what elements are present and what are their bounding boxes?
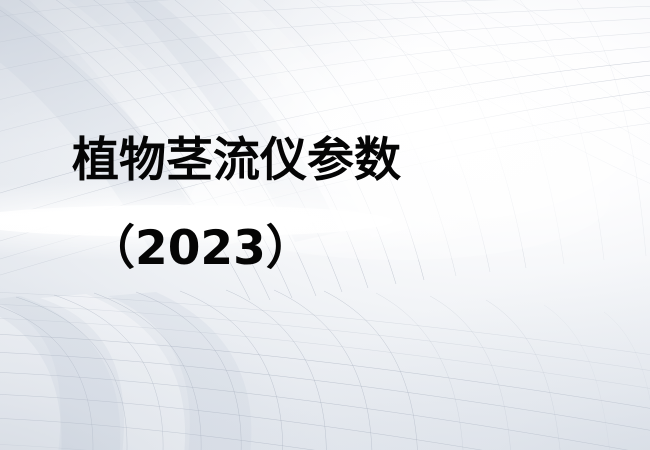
title-slide: 植物茎流仪参数 （2023） [0, 0, 650, 450]
slide-title-line-2: （2023） [88, 221, 313, 277]
slide-title-line-1: 植物茎流仪参数 [72, 133, 401, 189]
slide-title-block: 植物茎流仪参数 （2023） [0, 0, 650, 450]
